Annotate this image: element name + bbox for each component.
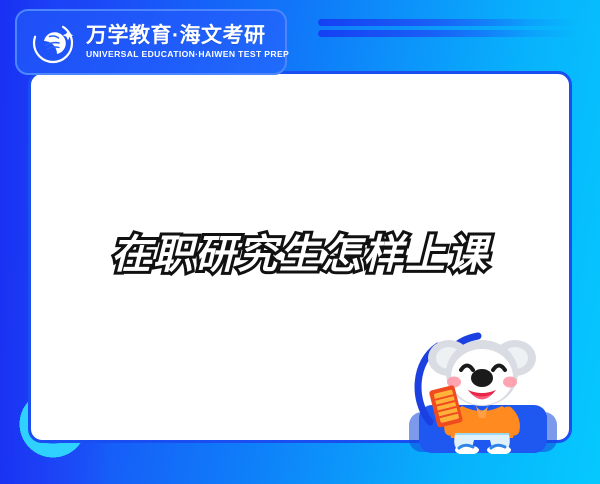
swirl-circle-logo-mark	[31, 19, 77, 65]
decorative-line-2	[318, 30, 576, 37]
poster-canvas: 万学教育·海文考研 UNIVERSAL EDUCATION·HAIWEN TES…	[0, 0, 600, 484]
page-title: 在职研究生怎样上课	[0, 222, 600, 280]
brand-logo-badge[interactable]: 万学教育·海文考研 UNIVERSAL EDUCATION·HAIWEN TES…	[15, 9, 287, 75]
decorative-lines-group	[318, 16, 580, 42]
brand-name-en: UNIVERSAL EDUCATION·HAIWEN TEST PREP	[86, 50, 289, 59]
brand-name-cn: 万学教育·海文考研	[86, 25, 289, 47]
koala-mascot	[404, 330, 560, 454]
decorative-line-1	[318, 19, 576, 26]
brand-logo-text: 万学教育·海文考研 UNIVERSAL EDUCATION·HAIWEN TES…	[86, 25, 289, 60]
